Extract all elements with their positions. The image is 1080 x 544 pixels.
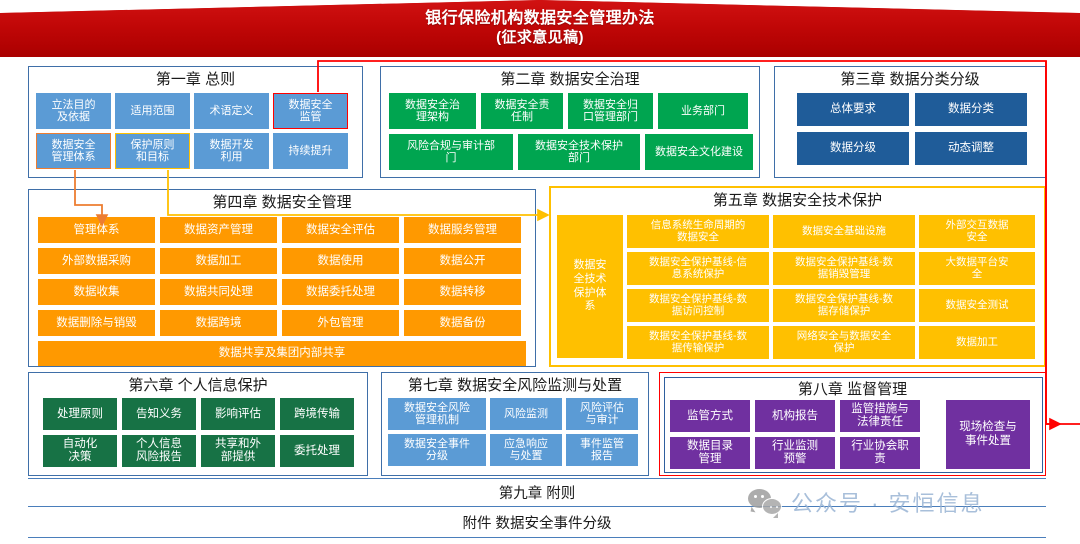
chapter-1-title: 第一章 总则 — [29, 67, 362, 91]
chapter-3-panel[interactable]: 第三章 数据分类分级 总体要求 数据分类 数据分级 动态调整 — [774, 66, 1046, 178]
chapter-8-panel[interactable]: 第八章 监督管理 监管方式 机构报告 监管措施与法律责任 数据目录管理 行业监测… — [659, 372, 1046, 476]
chapter-1-item-3[interactable]: 数据安全监管 — [273, 93, 348, 129]
chapter-4-item-4[interactable]: 外部数据采购 — [38, 248, 155, 274]
chapter-2-item-3[interactable]: 业务部门 — [658, 93, 748, 129]
chapter-5-item-3[interactable]: 数据安全保护基线-信息系统保护 — [627, 252, 769, 285]
chapter-2-item-5[interactable]: 数据安全技术保护部门 — [518, 134, 640, 170]
chapter-5-item-1[interactable]: 数据安全基础设施 — [773, 215, 915, 248]
chapter-3-item-0[interactable]: 总体要求 — [797, 93, 909, 126]
appendix-label: 附件 数据安全事件分级 — [462, 512, 611, 533]
chapter-6-item-1[interactable]: 告知义务 — [122, 398, 196, 430]
chapter-4-item-11[interactable]: 数据转移 — [404, 279, 521, 305]
chapter-7-item-5[interactable]: 事件监管报告 — [566, 434, 638, 466]
chapter-8-item-4[interactable]: 行业监测预警 — [755, 437, 835, 469]
chapter-6-panel[interactable]: 第六章 个人信息保护 处理原则 告知义务 影响评估 跨境传输 自动化决策 个人信… — [28, 372, 368, 476]
chapter-7-item-3[interactable]: 数据安全事件分级 — [388, 434, 486, 466]
chapter-7-title: 第七章 数据安全风险监测与处置 — [382, 373, 648, 397]
chapter-5-item-11[interactable]: 数据加工 — [919, 326, 1035, 359]
chapter-4-item-9[interactable]: 数据共同处理 — [160, 279, 277, 305]
wire-red-to-chapter8 — [1046, 61, 1060, 424]
chapter-6-items: 处理原则 告知义务 影响评估 跨境传输 自动化决策 个人信息风险报告 共享和外部… — [43, 398, 355, 467]
chapter-9-label: 第九章 附则 — [499, 482, 576, 503]
chapter-4-item-2[interactable]: 数据安全评估 — [282, 217, 399, 243]
chapter-4-item-3[interactable]: 数据服务管理 — [404, 217, 521, 243]
title-banner: 银行保险机构数据安全管理办法 (征求意见稿) — [0, 0, 1080, 57]
chapter-5-items: 数据安全技术保护体系 信息系统生命周期的数据安全 数据安全基础设施 外部交互数据… — [557, 215, 1041, 359]
chapter-6-item-3[interactable]: 跨境传输 — [280, 398, 354, 430]
chapter-2-title: 第二章 数据安全治理 — [381, 67, 759, 91]
chapter-5-panel[interactable]: 第五章 数据安全技术保护 数据安全技术保护体系 信息系统生命周期的数据安全 数据… — [549, 186, 1046, 367]
chapter-4-item-8[interactable]: 数据收集 — [38, 279, 155, 305]
chapter-7-item-4[interactable]: 应急响应与处置 — [490, 434, 562, 466]
chapter-3-item-1[interactable]: 数据分类 — [915, 93, 1027, 126]
chapter-4-item-16[interactable]: 数据共享及集团内部共享 — [38, 341, 526, 366]
chapter-5-title: 第五章 数据安全技术保护 — [551, 188, 1044, 212]
chapter-1-item-7[interactable]: 持续提升 — [273, 133, 348, 169]
chapter-5-item-7[interactable]: 数据安全保护基线-数据存储保护 — [773, 289, 915, 322]
chapter-4-item-15[interactable]: 数据备份 — [404, 310, 521, 336]
wechat-icon — [748, 489, 782, 515]
chapter-1-item-4[interactable]: 数据安全管理体系 — [36, 133, 111, 169]
chapter-4-title: 第四章 数据安全管理 — [29, 190, 535, 214]
chapter-5-item-0[interactable]: 信息系统生命周期的数据安全 — [627, 215, 769, 248]
chapter-6-item-0[interactable]: 处理原则 — [43, 398, 117, 430]
chapter-2-item-6[interactable]: 数据安全文化建设 — [645, 134, 753, 170]
chapter-3-item-2[interactable]: 数据分级 — [797, 132, 909, 165]
chapter-5-side-cell[interactable]: 数据安全技术保护体系 — [557, 215, 623, 358]
chapter-3-title: 第三章 数据分类分级 — [775, 67, 1045, 91]
chapter-2-item-4[interactable]: 风险合规与审计部门 — [389, 134, 513, 170]
chapter-8-item-0[interactable]: 监管方式 — [670, 400, 750, 432]
banner-line-2: (征求意见稿) — [0, 28, 1080, 47]
chapter-8-item-3[interactable]: 数据目录管理 — [670, 437, 750, 469]
watermark-text: 公众号 · 安恒信息 — [791, 486, 985, 518]
chapter-8-items: 监管方式 机构报告 监管措施与法律责任 数据目录管理 行业监测预警 行业协会职责… — [670, 400, 1030, 469]
chapter-5-grid: 信息系统生命周期的数据安全 数据安全基础设施 外部交互数据安全 数据安全保护基线… — [627, 215, 1039, 359]
chapter-5-item-10[interactable]: 网络安全与数据安全保护 — [773, 326, 915, 359]
chapter-1-item-0[interactable]: 立法目的及依据 — [36, 93, 111, 129]
chapter-1-panel[interactable]: 第一章 总则 立法目的及依据 适用范围 术语定义 数据安全监管 数据安全管理体系… — [28, 66, 363, 178]
chapter-7-panel[interactable]: 第七章 数据安全风险监测与处置 数据安全风险管理机制 风险监测 风险评估与审计 … — [381, 372, 649, 476]
chapter-2-item-0[interactable]: 数据安全治理架构 — [389, 93, 476, 129]
chapter-6-title: 第六章 个人信息保护 — [29, 373, 367, 397]
chapter-8-item-5[interactable]: 行业协会职责 — [840, 437, 920, 469]
chapter-8-title: 第八章 监督管理 — [660, 373, 1045, 401]
chapter-4-panel[interactable]: 第四章 数据安全管理 管理体系 数据资产管理 数据安全评估 数据服务管理 外部数… — [28, 189, 536, 367]
chapter-2-item-2[interactable]: 数据安全归口管理部门 — [568, 93, 653, 129]
chapter-4-item-1[interactable]: 数据资产管理 — [160, 217, 277, 243]
chapter-1-items: 立法目的及依据 适用范围 术语定义 数据安全监管 数据安全管理体系 保护原则和目… — [36, 93, 357, 169]
banner-line-1: 银行保险机构数据安全管理办法 — [0, 9, 1080, 28]
diagram-root: 银行保险机构数据安全管理办法 (征求意见稿) 第一章 总则 立法目的及依据 适用… — [0, 0, 1080, 544]
chapter-4-item-5[interactable]: 数据加工 — [160, 248, 277, 274]
chapter-5-item-9[interactable]: 数据安全保护基线-数据传输保护 — [627, 326, 769, 359]
chapter-2-items: 数据安全治理架构 数据安全责任制 数据安全归口管理部门 业务部门 风险合规与审计… — [389, 93, 753, 170]
chapter-8-item-1[interactable]: 机构报告 — [755, 400, 835, 432]
chapter-4-item-13[interactable]: 数据跨境 — [160, 310, 277, 336]
chapter-4-item-14[interactable]: 外包管理 — [282, 310, 399, 336]
chapter-7-item-2[interactable]: 风险评估与审计 — [566, 398, 638, 430]
chapter-2-item-1[interactable]: 数据安全责任制 — [481, 93, 563, 129]
chapter-5-item-4[interactable]: 数据安全保护基线-数据销毁管理 — [773, 252, 915, 285]
chapter-6-item-6[interactable]: 共享和外部提供 — [201, 435, 275, 467]
chapter-4-item-12[interactable]: 数据删除与销毁 — [38, 310, 155, 336]
chapter-1-item-5[interactable]: 保护原则和目标 — [115, 133, 190, 169]
chapter-4-items: 管理体系 数据资产管理 数据安全评估 数据服务管理 外部数据采购 数据加工 数据… — [38, 217, 528, 366]
chapter-3-items: 总体要求 数据分类 数据分级 动态调整 — [797, 93, 1027, 165]
chapter-8-grid: 监管方式 机构报告 监管措施与法律责任 数据目录管理 行业监测预警 行业协会职责 — [670, 400, 940, 469]
chapter-8-item-2[interactable]: 监管措施与法律责任 — [840, 400, 920, 432]
chapter-1-item-6[interactable]: 数据开发利用 — [194, 133, 269, 169]
chapter-4-item-10[interactable]: 数据委托处理 — [282, 279, 399, 305]
chapter-3-item-3[interactable]: 动态调整 — [915, 132, 1027, 165]
chapter-7-items: 数据安全风险管理机制 风险监测 风险评估与审计 数据安全事件分级 应急响应与处置… — [388, 398, 644, 466]
chapter-6-item-7[interactable]: 委托处理 — [280, 435, 354, 467]
chapter-2-panel[interactable]: 第二章 数据安全治理 数据安全治理架构 数据安全责任制 数据安全归口管理部门 业… — [380, 66, 760, 178]
chapter-1-item-1[interactable]: 适用范围 — [115, 93, 190, 129]
chapter-7-item-0[interactable]: 数据安全风险管理机制 — [388, 398, 486, 430]
chapter-4-item-0[interactable]: 管理体系 — [38, 217, 155, 243]
chapter-4-item-7[interactable]: 数据公开 — [404, 248, 521, 274]
chapter-6-item-5[interactable]: 个人信息风险报告 — [122, 435, 196, 467]
chapter-5-item-5[interactable]: 大数据平台安全 — [919, 252, 1035, 285]
chapter-6-item-2[interactable]: 影响评估 — [201, 398, 275, 430]
chapter-5-item-6[interactable]: 数据安全保护基线-数据访问控制 — [627, 289, 769, 322]
chapter-5-item-2[interactable]: 外部交互数据安全 — [919, 215, 1035, 248]
watermark: 公众号 · 安恒信息 — [748, 486, 985, 518]
chapter-6-item-4[interactable]: 自动化决策 — [43, 435, 117, 467]
chapter-4-item-6[interactable]: 数据使用 — [282, 248, 399, 274]
banner-text: 银行保险机构数据安全管理办法 (征求意见稿) — [0, 9, 1080, 47]
chapter-7-item-1[interactable]: 风险监测 — [490, 398, 562, 430]
chapter-5-item-8[interactable]: 数据安全测试 — [919, 289, 1035, 322]
chapter-1-item-2[interactable]: 术语定义 — [194, 93, 269, 129]
chapter-8-tall-cell[interactable]: 现场检查与事件处置 — [946, 400, 1030, 469]
